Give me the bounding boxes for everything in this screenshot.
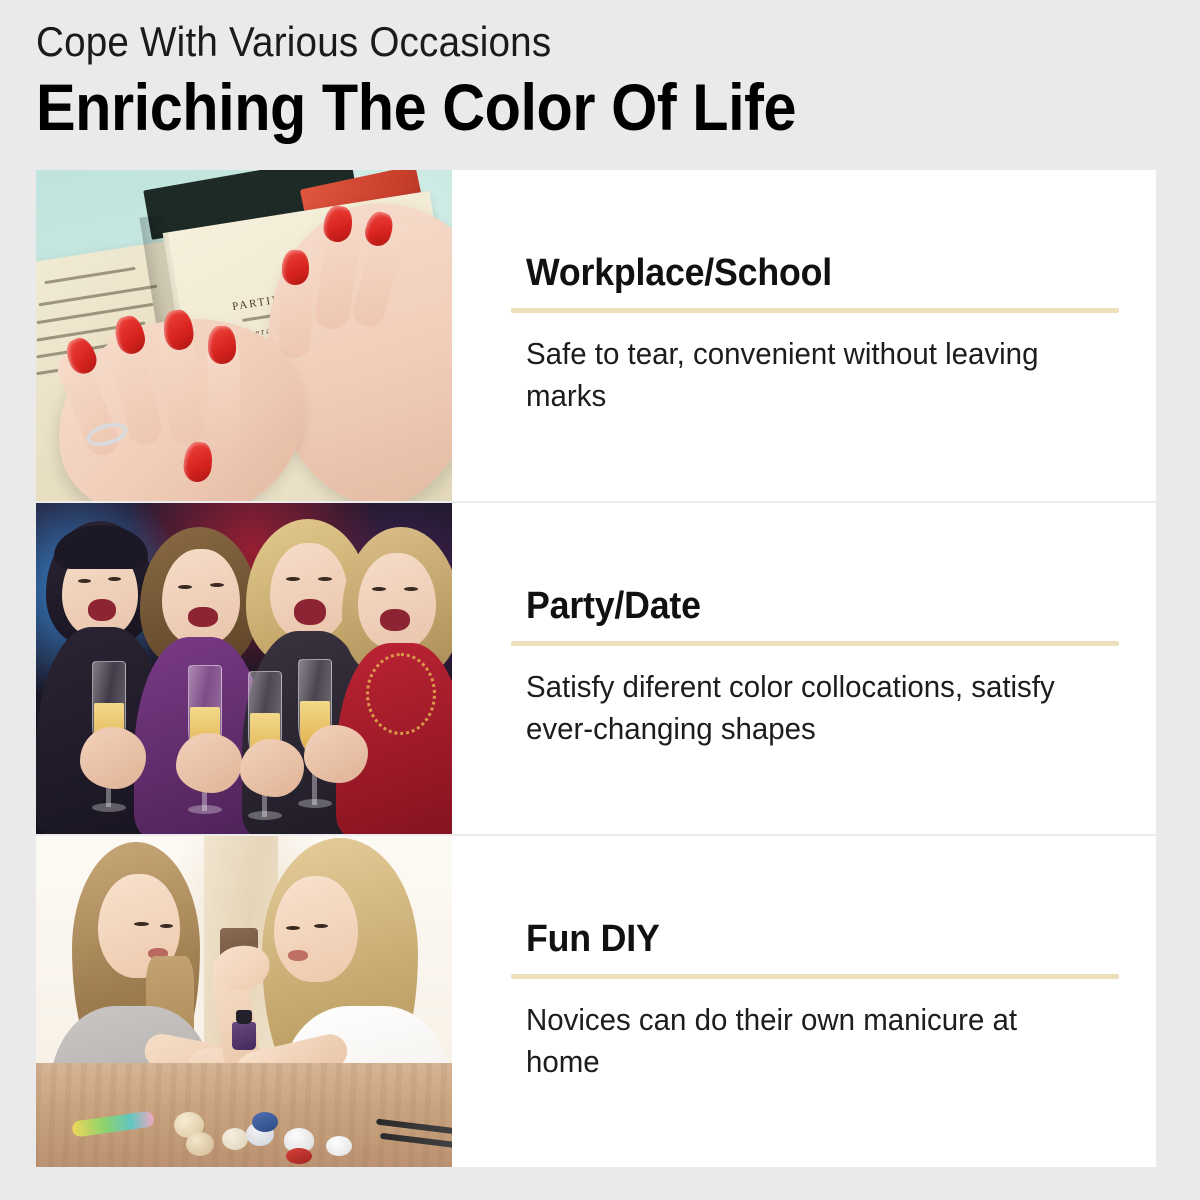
eyebrow-title: Cope With Various Occasions — [36, 18, 1066, 65]
feature-row-fun-diy: Fun DIY Novices can do their own manicur… — [36, 834, 1156, 1167]
decoration-ball — [186, 1132, 214, 1156]
eye — [108, 577, 121, 581]
feature-row-party-date: Party/Date Satisfy diferent color colloc… — [36, 501, 1156, 834]
nail-polish-cap — [236, 1010, 252, 1024]
fingernail — [281, 250, 309, 286]
eye — [178, 585, 192, 589]
wooden-table — [36, 1063, 452, 1167]
hair-fringe — [54, 525, 148, 569]
mouth — [294, 599, 326, 625]
photo-two-women-home-manicure — [36, 836, 452, 1167]
face — [162, 549, 240, 645]
flute-foot — [92, 803, 126, 812]
accent-rule — [511, 641, 1119, 646]
photo-hands-red-nails-book: PARTIE II Generalites — [36, 170, 452, 501]
eye — [318, 577, 332, 581]
eye — [314, 924, 328, 928]
feature-text-workplace-school: Workplace/School Safe to tear, convenien… — [452, 170, 1175, 501]
flute-foot — [298, 799, 332, 808]
flute-foot — [188, 805, 222, 814]
hand — [304, 725, 368, 783]
feature-text-fun-diy: Fun DIY Novices can do their own manicur… — [452, 836, 1175, 1167]
eye — [78, 579, 91, 583]
hand — [240, 739, 304, 797]
promo-poster: Cope With Various Occasions Enriching Th… — [0, 0, 1200, 1200]
photo-friends-champagne-party — [36, 503, 452, 834]
fingernail — [208, 326, 237, 364]
decoration-ball — [222, 1128, 248, 1150]
eye — [286, 577, 300, 581]
poster-header: Cope With Various Occasions Enriching Th… — [36, 18, 1156, 142]
glitter-jar — [326, 1136, 352, 1156]
accent-rule — [511, 308, 1119, 313]
feature-description: Satisfy diferent color collocations, sat… — [526, 666, 1058, 752]
nail-polish-bottle — [232, 1022, 256, 1050]
feature-row-workplace-school: PARTIE II Generalites — [36, 170, 1156, 501]
eye — [372, 587, 386, 591]
feature-title: Party/Date — [526, 586, 1083, 628]
necklace — [366, 653, 436, 735]
features-card: PARTIE II Generalites — [36, 170, 1156, 1165]
mouth — [380, 609, 410, 631]
hand — [80, 727, 146, 789]
glitter-jar-red — [286, 1148, 312, 1164]
mouth — [288, 950, 308, 961]
feature-title: Workplace/School — [526, 253, 1083, 295]
eye — [134, 922, 149, 926]
accent-rule — [511, 974, 1119, 979]
page-title: Enriching The Color Of Life — [36, 73, 1044, 142]
mouth — [188, 607, 218, 627]
eye — [210, 583, 224, 587]
feature-title: Fun DIY — [526, 919, 1083, 961]
flute-foot — [248, 811, 282, 820]
feature-description: Novices can do their own manicure at hom… — [526, 999, 1058, 1085]
mouth — [88, 599, 116, 621]
glitter-jar-blue — [252, 1112, 278, 1132]
feature-description: Safe to tear, convenient without leaving… — [526, 333, 1058, 419]
face — [358, 553, 436, 649]
eye — [404, 587, 418, 591]
hand — [176, 733, 242, 793]
eye — [160, 924, 173, 928]
feature-text-party-date: Party/Date Satisfy diferent color colloc… — [452, 503, 1175, 834]
eye — [286, 926, 300, 930]
